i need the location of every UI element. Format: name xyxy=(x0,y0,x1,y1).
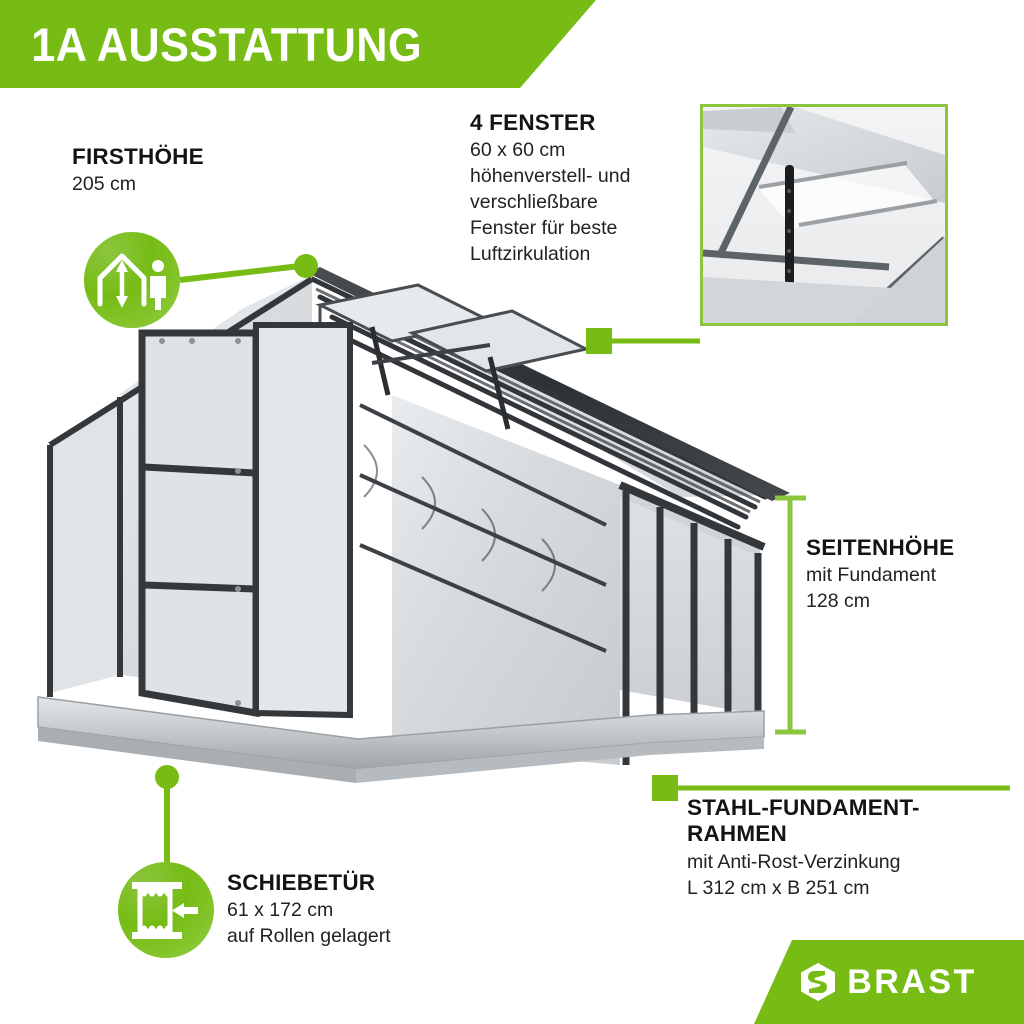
greenhouse-sliding-door xyxy=(142,325,350,715)
callout-fundament-body: mit Anti-Rost-Verzinkung L 312 cm x B 25… xyxy=(687,850,1007,902)
callout-fenster-body: 60 x 60 cm höhenverstell- und verschließ… xyxy=(470,138,698,268)
callout-firsthoehe-body: 205 cm xyxy=(72,172,322,198)
callout-seitenhoehe-title: SEITENHÖHE xyxy=(806,535,1021,561)
arrow-left-icon xyxy=(172,903,198,918)
sliding-door-icon xyxy=(118,862,214,958)
callout-fenster-title: 4 FENSTER xyxy=(470,110,698,136)
infographic-root: 1A AUSSTATTUNG xyxy=(0,0,1024,1024)
callout-seitenhoehe-body: mit Fundament 128 cm xyxy=(806,563,1021,615)
callout-firsthoehe-title: FIRSTHÖHE xyxy=(72,144,322,170)
roof-window-inset-photo xyxy=(700,104,948,326)
callout-fundament: STAHL-FUNDAMENT- RAHMEN mit Anti-Rost-Ve… xyxy=(687,795,1007,901)
brand-logo: BRAST xyxy=(754,940,1024,1024)
callout-fenster: 4 FENSTER 60 x 60 cm höhenverstell- und … xyxy=(470,110,698,268)
page-title: 1A AUSSTATTUNG xyxy=(0,17,422,72)
callout-seitenhoehe: SEITENHÖHE mit Fundament 128 cm xyxy=(806,535,1021,615)
greenhouse-product-photo xyxy=(20,245,810,810)
header-banner: 1A AUSSTATTUNG xyxy=(0,0,596,88)
callout-schiebetuer-title: SCHIEBETÜR xyxy=(227,870,507,896)
brast-hex-logo-icon xyxy=(801,963,835,1001)
callout-schiebetuer: SCHIEBETÜR 61 x 172 cm auf Rollen gelage… xyxy=(227,870,507,950)
callout-schiebetuer-body: 61 x 172 cm auf Rollen gelagert xyxy=(227,898,507,950)
callout-fundament-title: STAHL-FUNDAMENT- RAHMEN xyxy=(687,795,1007,848)
brand-name: BRAST xyxy=(847,963,977,1002)
callout-firsthoehe: FIRSTHÖHE 205 cm xyxy=(72,144,322,198)
ridge-height-icon xyxy=(84,232,180,328)
